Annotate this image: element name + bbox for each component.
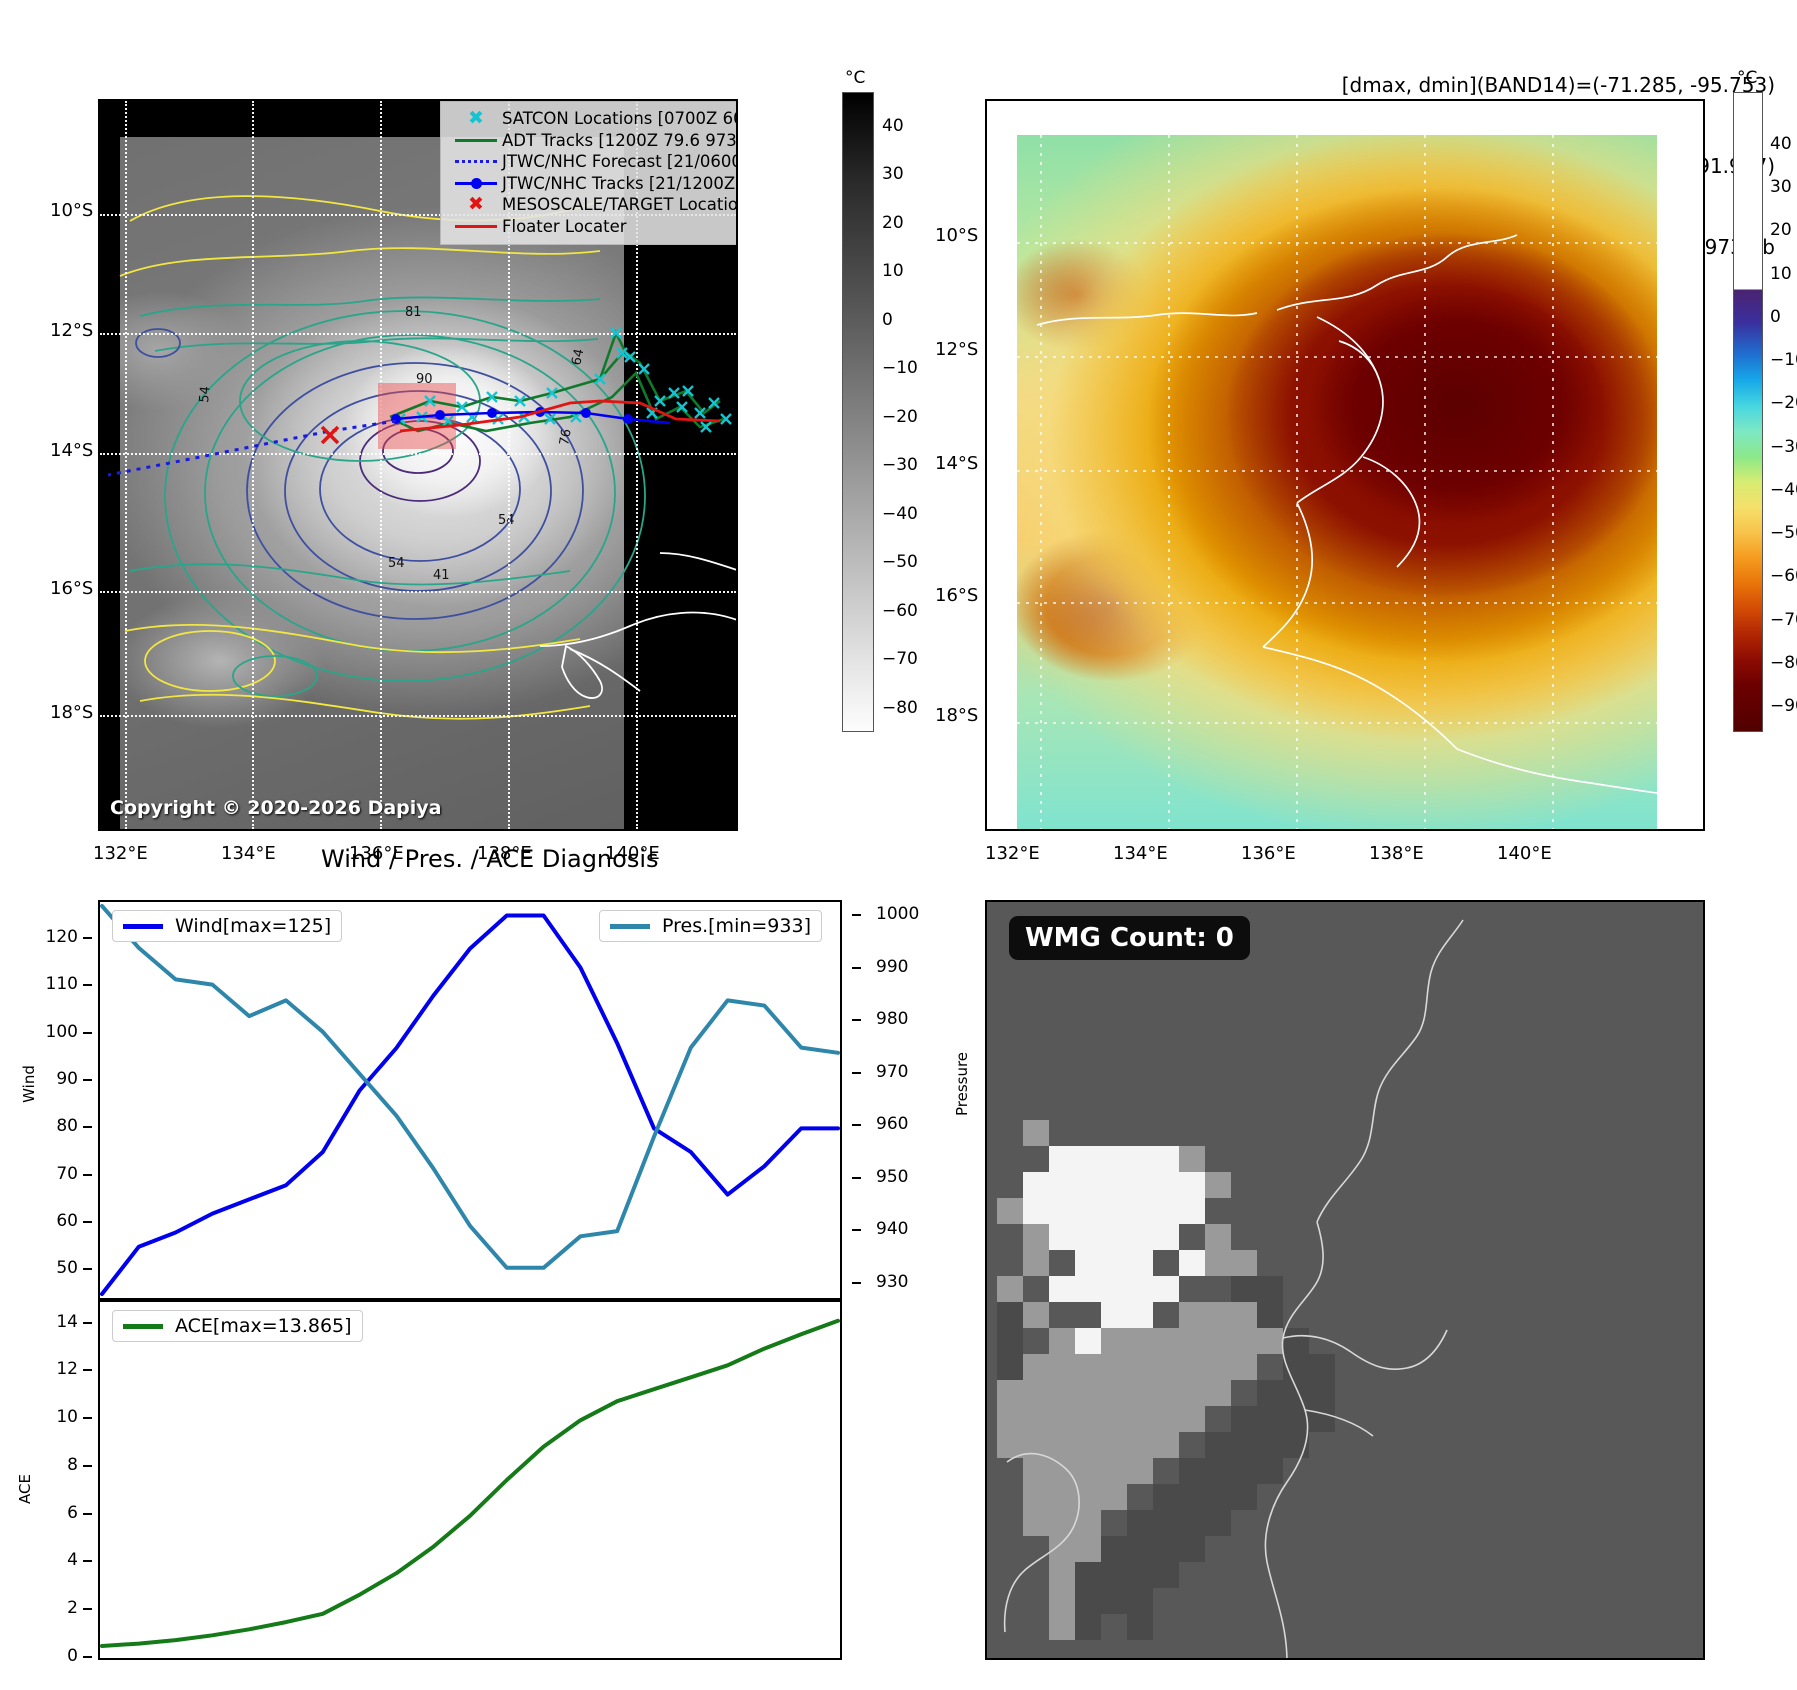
wmg-cell-dark [1127, 1536, 1153, 1562]
wmg-cell-bright [1127, 1224, 1153, 1250]
wmg-cell-bright [1101, 1146, 1127, 1172]
colorbar-tick--40: −40 [1770, 480, 1797, 500]
wmg-cell-bright [1049, 1146, 1075, 1172]
wmg-cell-mid [1153, 1328, 1179, 1354]
wmg-cell-dark [1153, 1510, 1179, 1536]
wmg-cell-mid [1023, 1484, 1049, 1510]
legend-item-jtwc-forecast[interactable]: JTWC/NHC Forecast [21/0600Z] [450, 151, 738, 173]
color-lon-tick-134e: 134°E [1113, 843, 1168, 864]
wmg-cell-bright [1153, 1146, 1179, 1172]
wmg-cell-dark [1309, 1406, 1335, 1432]
y2-tick-930: 930 [876, 1272, 908, 1292]
ir-satellite-panel[interactable]: 81 90 64 76 54 54 41 54 [98, 99, 738, 831]
wmg-cell-mid [1179, 1380, 1205, 1406]
wmg-cell-dark [1283, 1380, 1309, 1406]
wmg-cell-mid [1101, 1354, 1127, 1380]
colorbar-color[interactable] [1733, 92, 1763, 732]
wmg-cell-dark [1205, 1484, 1231, 1510]
y-tick-8: 8 [67, 1455, 78, 1475]
wmg-cell-bright [1127, 1146, 1153, 1172]
ace-line-icon [123, 1324, 163, 1329]
colorbar-tick-20: 20 [1770, 220, 1792, 240]
wmg-cell-mid [1049, 1406, 1075, 1432]
wmg-cell-mid [1075, 1406, 1101, 1432]
wmg-cell-bright [1179, 1198, 1205, 1224]
legend-label-adt: ADT Tracks [1200Z 79.6 973.7] [502, 130, 738, 152]
wind-legend[interactable]: Wind[max=125] [112, 910, 342, 942]
wmg-cell-bright [1049, 1198, 1075, 1224]
wmg-cell-mid [1075, 1354, 1101, 1380]
wmg-cell-mid [1127, 1380, 1153, 1406]
wmg-cell-bright [1127, 1276, 1153, 1302]
wmg-cell-mid [1205, 1328, 1231, 1354]
colorbar-tick-30: 30 [882, 164, 904, 184]
wmg-cell-bright [1127, 1172, 1153, 1198]
legend-item-adt[interactable]: ADT Tracks [1200Z 79.6 973.7] [450, 130, 738, 152]
wmg-cell-bright [1153, 1224, 1179, 1250]
wmg-cell-mid [1101, 1458, 1127, 1484]
wmg-cell-dark [997, 1354, 1023, 1380]
wmg-cell-mid [1023, 1120, 1049, 1146]
y-tick-90: 90 [56, 1069, 78, 1089]
ace-legend-label: ACE[max=13.865] [175, 1315, 352, 1337]
wmg-cell-bright [1075, 1198, 1101, 1224]
wmg-cell-dark [1205, 1510, 1231, 1536]
wmg-cell-mid [1153, 1432, 1179, 1458]
wmg-cell-mid [1101, 1484, 1127, 1510]
color-lon-tick-140e: 140°E [1497, 843, 1552, 864]
ace-y-ticks: 02468101214 [0, 1300, 92, 1660]
wmg-cell-mid [1049, 1588, 1075, 1614]
wmg-cell-mid [1153, 1406, 1179, 1432]
wmg-cell-bright [1101, 1172, 1127, 1198]
wmg-cell-dark [1075, 1614, 1101, 1640]
y-tickmark [83, 1079, 92, 1081]
wmg-cell-mid [1101, 1406, 1127, 1432]
y-tickmark [83, 1560, 92, 1562]
wmg-cell-mid [1023, 1302, 1049, 1328]
y-tick-120: 120 [46, 927, 78, 947]
legend-label-floater: Floater Locater [502, 216, 627, 238]
wind-legend-label: Wind[max=125] [175, 915, 331, 937]
wmg-cell-mid [1049, 1354, 1075, 1380]
forecast-dotted-icon [450, 160, 502, 163]
wmg-cell-bright [1179, 1250, 1205, 1276]
colorbar-tick-30: 30 [1770, 177, 1792, 197]
y-tick-50: 50 [56, 1258, 78, 1278]
colorbar-grey-unit: °C [845, 68, 865, 88]
colorbar-tick-40: 40 [882, 116, 904, 136]
wmg-cell-bright [1153, 1172, 1179, 1198]
wmg-cell-dark [1127, 1614, 1153, 1640]
enhanced-ir-overlay [1017, 135, 1657, 831]
ace-plot [100, 1302, 840, 1658]
legend-label-jtwc-tracks: JTWC/NHC Tracks [21/1200Z] [502, 173, 738, 195]
wmg-cell-mid [1075, 1432, 1101, 1458]
wmg-cell-bright [1153, 1198, 1179, 1224]
ir-lat-tick-10s: 10°S [50, 200, 93, 221]
y-tick-0: 0 [67, 1646, 78, 1666]
wmg-cell-mid [1049, 1458, 1075, 1484]
y-tick-70: 70 [56, 1164, 78, 1184]
floater-line-icon [450, 225, 502, 228]
y2-tick-1000: 1000 [876, 904, 919, 924]
wmg-cell-mid [1075, 1458, 1101, 1484]
adt-line-icon [450, 139, 502, 142]
ir-lat-tick-14s: 14°S [50, 440, 93, 461]
wmg-cell-dark [1075, 1562, 1101, 1588]
enhanced-ir-panel[interactable] [985, 99, 1705, 831]
pressure-legend-label: Pres.[min=933] [662, 915, 811, 937]
jtwc-forecast-track [108, 421, 396, 475]
y2-tickmark [852, 1124, 861, 1126]
y-tick-2: 2 [67, 1598, 78, 1618]
y-tickmark [83, 1513, 92, 1515]
color-lat-tick-10s: 10°S [935, 225, 978, 246]
mesoscale-target-marker [322, 427, 338, 443]
diagnosis-chart-title: Wind / Pres. / ACE Diagnosis [321, 845, 659, 873]
wmg-cell-mid [1101, 1380, 1127, 1406]
wmg-cell-bright [1075, 1328, 1101, 1354]
wmg-cell-mid [1127, 1354, 1153, 1380]
wmg-cell-mid [1231, 1302, 1257, 1328]
colorbar-tick-20: 20 [882, 213, 904, 233]
colorbar-tick--90: −90 [1770, 696, 1797, 716]
wmg-cell-mid [1101, 1328, 1127, 1354]
wind-pressure-plot [100, 902, 840, 1298]
colorbar-tick-0: 0 [1770, 307, 1781, 327]
y2-tick-980: 980 [876, 1009, 908, 1029]
wmg-cell-dark [1309, 1354, 1335, 1380]
y-tickmark [83, 1465, 92, 1467]
wind-pressure-chart[interactable] [98, 900, 842, 1300]
wmg-cell-mid [1049, 1484, 1075, 1510]
y2-tick-970: 970 [876, 1062, 908, 1082]
legend-label-satcon: SATCON Locations [0700Z 60 982] [502, 108, 738, 130]
colorbar-tick-40: 40 [1770, 134, 1792, 154]
pressure-axis-label: Pressure [953, 1052, 971, 1116]
wmg-cell-bright [1179, 1172, 1205, 1198]
wmg-cell-bright [1127, 1198, 1153, 1224]
wmg-count-badge: WMG Count: 0 [1009, 916, 1250, 960]
y-tickmark [83, 1126, 92, 1128]
wmg-cell-dark [1205, 1458, 1231, 1484]
ir-lon-tick-132e: 132°E [93, 843, 148, 864]
wmg-cell-mid [1231, 1328, 1257, 1354]
wmg-cell-mid [1023, 1354, 1049, 1380]
wmg-cell-mid [997, 1406, 1023, 1432]
wmg-cell-bright [1075, 1224, 1101, 1250]
wind-line-icon [123, 924, 163, 929]
wmg-cell-dark [1153, 1562, 1179, 1588]
wmg-cell-mid [1075, 1510, 1101, 1536]
colorbar-tick--40: −40 [882, 504, 918, 524]
y-tick-80: 80 [56, 1116, 78, 1136]
wmg-grid [987, 902, 1703, 1658]
legend-item-jtwc-tracks[interactable]: JTWC/NHC Tracks [21/1200Z] [450, 173, 738, 195]
ir-lat-tick-16s: 16°S [50, 578, 93, 599]
wmg-cell-mid [1049, 1614, 1075, 1640]
wmg-cell-dark [1179, 1536, 1205, 1562]
wmg-cell-mid [1179, 1302, 1205, 1328]
wmg-cell-dark [1075, 1588, 1101, 1614]
ir-lat-tick-18s: 18°S [50, 702, 93, 723]
wmg-cell-bright [1101, 1224, 1127, 1250]
wmg-cell-mid [1023, 1250, 1049, 1276]
wmg-cell-dark [1153, 1536, 1179, 1562]
wmg-cell-dark [1179, 1510, 1205, 1536]
y2-tickmark [852, 967, 861, 969]
wmg-cell-bright [1075, 1250, 1101, 1276]
wmg-cell-mid [1231, 1354, 1257, 1380]
wmg-cell-bright [1127, 1250, 1153, 1276]
legend-label-jtwc-forecast: JTWC/NHC Forecast [21/0600Z] [502, 151, 738, 173]
y2-tick-950: 950 [876, 1167, 908, 1187]
wmg-cell-bright [1101, 1276, 1127, 1302]
wmg-cell-mid [1205, 1380, 1231, 1406]
pressure-legend[interactable]: Pres.[min=933] [599, 910, 822, 942]
wmg-cell-bright [1153, 1276, 1179, 1302]
colorbar-tick--20: −20 [1770, 393, 1797, 413]
y2-tickmark [852, 1229, 861, 1231]
color-lat-tick-14s: 14°S [935, 453, 978, 474]
wmg-cell-dark [1179, 1458, 1205, 1484]
wmg-cell-bright [1101, 1302, 1127, 1328]
wmg-cell-mid [1205, 1172, 1231, 1198]
wmg-cell-dark [1101, 1562, 1127, 1588]
y2-tick-990: 990 [876, 957, 908, 977]
legend-item-satcon[interactable]: ✖ SATCON Locations [0700Z 60 982] [450, 108, 738, 130]
color-lon-tick-138e: 138°E [1369, 843, 1424, 864]
colorbar-tick--50: −50 [1770, 523, 1797, 543]
legend-item-mesoscale[interactable]: ✖ MESOSCALE/TARGET Location [450, 194, 738, 216]
copyright-notice: Copyright © 2020-2026 Dapiya [110, 797, 441, 819]
mesoscale-x-icon: ✖ [450, 195, 502, 214]
colorbar-tick--80: −80 [882, 698, 918, 718]
wmg-cell-dark [1257, 1380, 1283, 1406]
wmg-cell-dark [997, 1302, 1023, 1328]
wmg-cell-bright [1101, 1250, 1127, 1276]
y2-tickmark [852, 1177, 861, 1179]
y-tick-4: 4 [67, 1550, 78, 1570]
wmg-cell-dark [1231, 1458, 1257, 1484]
wmg-cell-mid [1049, 1536, 1075, 1562]
colorbar-tick--50: −50 [882, 552, 918, 572]
dmax-dmin-band14: [dmax, dmin](BAND14)=(-71.285, -95.753) [1342, 72, 1775, 99]
wmg-cell-mid [1127, 1432, 1153, 1458]
y2-tickmark [852, 1282, 861, 1284]
wmg-cell-mid [1179, 1406, 1205, 1432]
wmg-cell-bright [1075, 1146, 1101, 1172]
wmg-cell-dark [1257, 1302, 1283, 1328]
jtwc-line-dot-icon [450, 182, 502, 185]
colorbar-tick--70: −70 [1770, 610, 1797, 630]
y-tickmark [83, 1656, 92, 1658]
wmg-cell-mid [1179, 1328, 1205, 1354]
wmg-cell-dark [1127, 1588, 1153, 1614]
y2-tick-960: 960 [876, 1114, 908, 1134]
wmg-cell-mid [1023, 1224, 1049, 1250]
wmg-cell-mid [1023, 1380, 1049, 1406]
wmg-cell-mid [1049, 1562, 1075, 1588]
wmg-cell-mid [1023, 1510, 1049, 1536]
y-tickmark [83, 984, 92, 986]
colorbar-tick--10: −10 [1770, 350, 1797, 370]
wmg-cell-mid [997, 1432, 1023, 1458]
series-acemax [102, 1321, 838, 1646]
wmg-cell-bright [1049, 1276, 1075, 1302]
wmg-cell-mid [1023, 1458, 1049, 1484]
wmg-cell-dark [1153, 1484, 1179, 1510]
y-tick-60: 60 [56, 1211, 78, 1231]
wmg-cell-mid [997, 1380, 1023, 1406]
colorbar-tick--70: −70 [882, 649, 918, 669]
wmg-cell-mid [1075, 1380, 1101, 1406]
wmg-cell-mid [1153, 1354, 1179, 1380]
wmg-cell-mid [1205, 1224, 1231, 1250]
wmg-cell-dark [1231, 1432, 1257, 1458]
color-lat-tick-16s: 16°S [935, 585, 978, 606]
wmg-cell-mid [1075, 1536, 1101, 1562]
wmg-cell-mid [1179, 1354, 1205, 1380]
wmg-cell-dark [1257, 1458, 1283, 1484]
wmg-cell-dark [1205, 1432, 1231, 1458]
colorbar-tick-10: 10 [1770, 264, 1792, 284]
y-tick-100: 100 [46, 1022, 78, 1042]
wmg-cell-bright [1023, 1172, 1049, 1198]
wmg-cell-mid [1127, 1406, 1153, 1432]
y-tick-110: 110 [46, 974, 78, 994]
colorbar-tick--30: −30 [1770, 437, 1797, 457]
wmg-cell-bright [1101, 1198, 1127, 1224]
y-tickmark [83, 1032, 92, 1034]
wmg-cell-mid [1049, 1432, 1075, 1458]
wmg-cell-dark [1127, 1562, 1153, 1588]
ir-lon-tick-134e: 134°E [221, 843, 276, 864]
ir-legend[interactable]: ✖ SATCON Locations [0700Z 60 982] ADT Tr… [440, 101, 738, 245]
wmg-cell-mid [997, 1198, 1023, 1224]
colorbar-tick--60: −60 [1770, 566, 1797, 586]
wmg-cell-mid [1153, 1380, 1179, 1406]
wmg-cell-mid [1231, 1250, 1257, 1276]
ace-legend[interactable]: ACE[max=13.865] [112, 1310, 363, 1342]
wmg-cell-dark [1231, 1484, 1257, 1510]
colorbar-tick--30: −30 [882, 455, 918, 475]
colorbar-tick--20: −20 [882, 407, 918, 427]
y-tick-6: 6 [67, 1503, 78, 1523]
wmg-cell-mid [1205, 1250, 1231, 1276]
wmg-cell-mid [1049, 1380, 1075, 1406]
color-lon-tick-132e: 132°E [985, 843, 1040, 864]
colorbar-tick-0: 0 [882, 310, 893, 330]
wmg-cell-mid [997, 1276, 1023, 1302]
wmg-cell-mid [1101, 1432, 1127, 1458]
y2-tickmark [852, 1019, 861, 1021]
wmg-cell-dark [1257, 1406, 1283, 1432]
pressure-line-icon [610, 924, 650, 929]
y2-tick-940: 940 [876, 1219, 908, 1239]
legend-label-mesoscale: MESOSCALE/TARGET Location [502, 194, 738, 216]
wmg-cell-mid [1179, 1146, 1205, 1172]
wmg-cell-bright [1075, 1276, 1101, 1302]
wmg-cell-dark [1257, 1276, 1283, 1302]
y-tick-12: 12 [56, 1359, 78, 1379]
y-tickmark [83, 1268, 92, 1270]
series-windmax [102, 916, 838, 1295]
wmg-cell-mid [1205, 1302, 1231, 1328]
wmg-cell-dark [1231, 1406, 1257, 1432]
wmg-cell-bright [1127, 1302, 1153, 1328]
wmg-cell-dark [1127, 1510, 1153, 1536]
wmg-cell-dark [1231, 1276, 1257, 1302]
wmg-cell-dark [1179, 1484, 1205, 1510]
color-lat-tick-18s: 18°S [935, 705, 978, 726]
wmg-cell-dark [997, 1328, 1023, 1354]
wmg-cell-mid [1127, 1328, 1153, 1354]
wmg-cell-bright [1049, 1172, 1075, 1198]
wmg-cell-dark [1309, 1380, 1335, 1406]
y-tick-14: 14 [56, 1312, 78, 1332]
ace-chart[interactable] [98, 1300, 842, 1660]
wmg-cell-dark [1257, 1432, 1283, 1458]
wmg-cell-dark [1283, 1328, 1309, 1354]
legend-item-floater[interactable]: Floater Locater [450, 216, 738, 238]
wmg-cell-mid [1257, 1328, 1283, 1354]
y-tickmark [83, 1369, 92, 1371]
y-tickmark [83, 937, 92, 939]
ir-lat-tick-12s: 12°S [50, 320, 93, 341]
y-tickmark [83, 1322, 92, 1324]
wmg-cell-dark [1101, 1536, 1127, 1562]
wmg-cell-mid [1205, 1354, 1231, 1380]
y-tickmark [83, 1221, 92, 1223]
y-tickmark [83, 1608, 92, 1610]
y-tick-10: 10 [56, 1407, 78, 1427]
wmg-panel[interactable]: WMG Count: 0 [985, 900, 1705, 1660]
wmg-cell-bright [1049, 1224, 1075, 1250]
y2-tickmark [852, 1072, 861, 1074]
wmg-cell-bright [1075, 1172, 1101, 1198]
colorbar-tick--80: −80 [1770, 653, 1797, 673]
satcon-x-icon: ✖ [450, 109, 502, 128]
colorbar-tick-10: 10 [882, 261, 904, 281]
wmg-cell-mid [1049, 1328, 1075, 1354]
wmg-cell-bright [1023, 1198, 1049, 1224]
y2-tickmark [852, 914, 861, 916]
colorbar-tick--10: −10 [882, 358, 918, 378]
colorbar-color-unit: °C [1737, 68, 1757, 88]
pressure-y-ticks: 9309409509609709809901000 [852, 900, 952, 1300]
wmg-cell-mid [1127, 1458, 1153, 1484]
y-tickmark [83, 1417, 92, 1419]
colorbar-grey[interactable] [842, 92, 874, 732]
color-lon-tick-136e: 136°E [1241, 843, 1296, 864]
colorbar-tick--60: −60 [882, 601, 918, 621]
y-tickmark [83, 1174, 92, 1176]
wmg-cell-mid [1023, 1406, 1049, 1432]
color-lat-tick-12s: 12°S [935, 339, 978, 360]
wmg-cell-dark [1101, 1588, 1127, 1614]
wind-y-ticks: 5060708090100110120 [0, 900, 92, 1300]
